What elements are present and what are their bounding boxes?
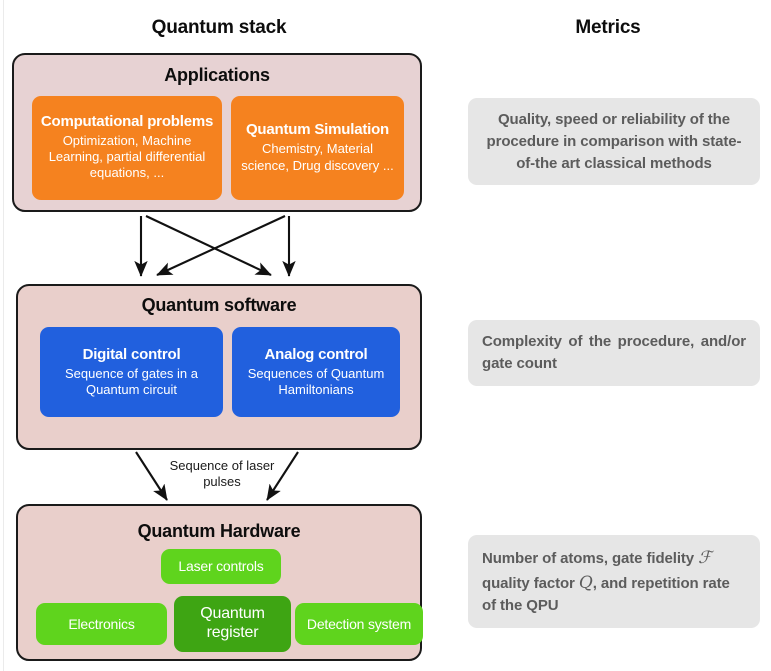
- card-quantum-simulation[interactable]: Quantum Simulation Chemistry, Material s…: [231, 96, 404, 200]
- card-title: Laser controls: [178, 558, 263, 574]
- layer-applications: Applications Computational problems Opti…: [12, 53, 422, 212]
- metric-box-software: Complexity of the procedure, and/or gate…: [468, 320, 760, 386]
- card-title: Computational problems: [41, 113, 213, 130]
- card-title: Quantum Simulation: [246, 121, 389, 138]
- card-electronics[interactable]: Electronics: [36, 603, 167, 645]
- card-title: Detection system: [307, 616, 411, 632]
- card-subtitle: Chemistry, Material science, Drug discov…: [237, 141, 398, 174]
- card-analog-control[interactable]: Analog control Sequences of Quantum Hami…: [232, 327, 400, 417]
- card-subtitle: Optimization, Machine Learning, partial …: [38, 133, 216, 182]
- arrow-apps-cross-left-to-right: [146, 216, 271, 275]
- layer-quantum-software: Quantum software Digital control Sequenc…: [16, 284, 422, 450]
- page-title-quantum-stack: Quantum stack: [0, 17, 438, 39]
- quality-factor-symbol-icon: 𝑄: [579, 573, 593, 593]
- card-detection-system[interactable]: Detection system: [295, 603, 423, 645]
- metric-box-hardware: Number of atoms, gate fidelity ℱ quality…: [468, 535, 760, 628]
- card-digital-control[interactable]: Digital control Sequence of gates in a Q…: [40, 327, 223, 417]
- fidelity-symbol-icon: ℱ: [698, 548, 711, 568]
- card-computational-problems[interactable]: Computational problems Optimization, Mac…: [32, 96, 222, 200]
- layer-title-applications: Applications: [14, 65, 420, 86]
- layer-title-quantum-hardware: Quantum Hardware: [18, 521, 420, 542]
- card-title: Quantum register: [180, 605, 285, 643]
- card-quantum-register[interactable]: Quantum register: [174, 596, 291, 652]
- metric-box-applications: Quality, speed or reliability of the pro…: [468, 98, 760, 185]
- card-title: Digital control: [83, 346, 181, 363]
- layer-title-quantum-software: Quantum software: [18, 295, 420, 316]
- card-subtitle: Sequence of gates in a Quantum circuit: [46, 366, 217, 399]
- card-laser-controls[interactable]: Laser controls: [161, 549, 281, 584]
- card-title: Electronics: [68, 616, 134, 632]
- card-title: Analog control: [264, 346, 367, 363]
- arrow-apps-cross-right-to-left: [157, 216, 285, 275]
- layer-quantum-hardware: Quantum Hardware Laser controls Electron…: [16, 504, 422, 661]
- metric-hardware-prefix: Number of atoms, gate fidelity: [482, 550, 698, 567]
- metric-hardware-middle: quality factor: [482, 575, 579, 592]
- arrow-caption-sequence-of-laser-pulses: Sequence of laser pulses: [158, 458, 286, 489]
- card-subtitle: Sequences of Quantum Hamiltonians: [238, 366, 394, 399]
- page-title-metrics: Metrics: [448, 17, 768, 39]
- page-edge-rule: [3, 0, 4, 671]
